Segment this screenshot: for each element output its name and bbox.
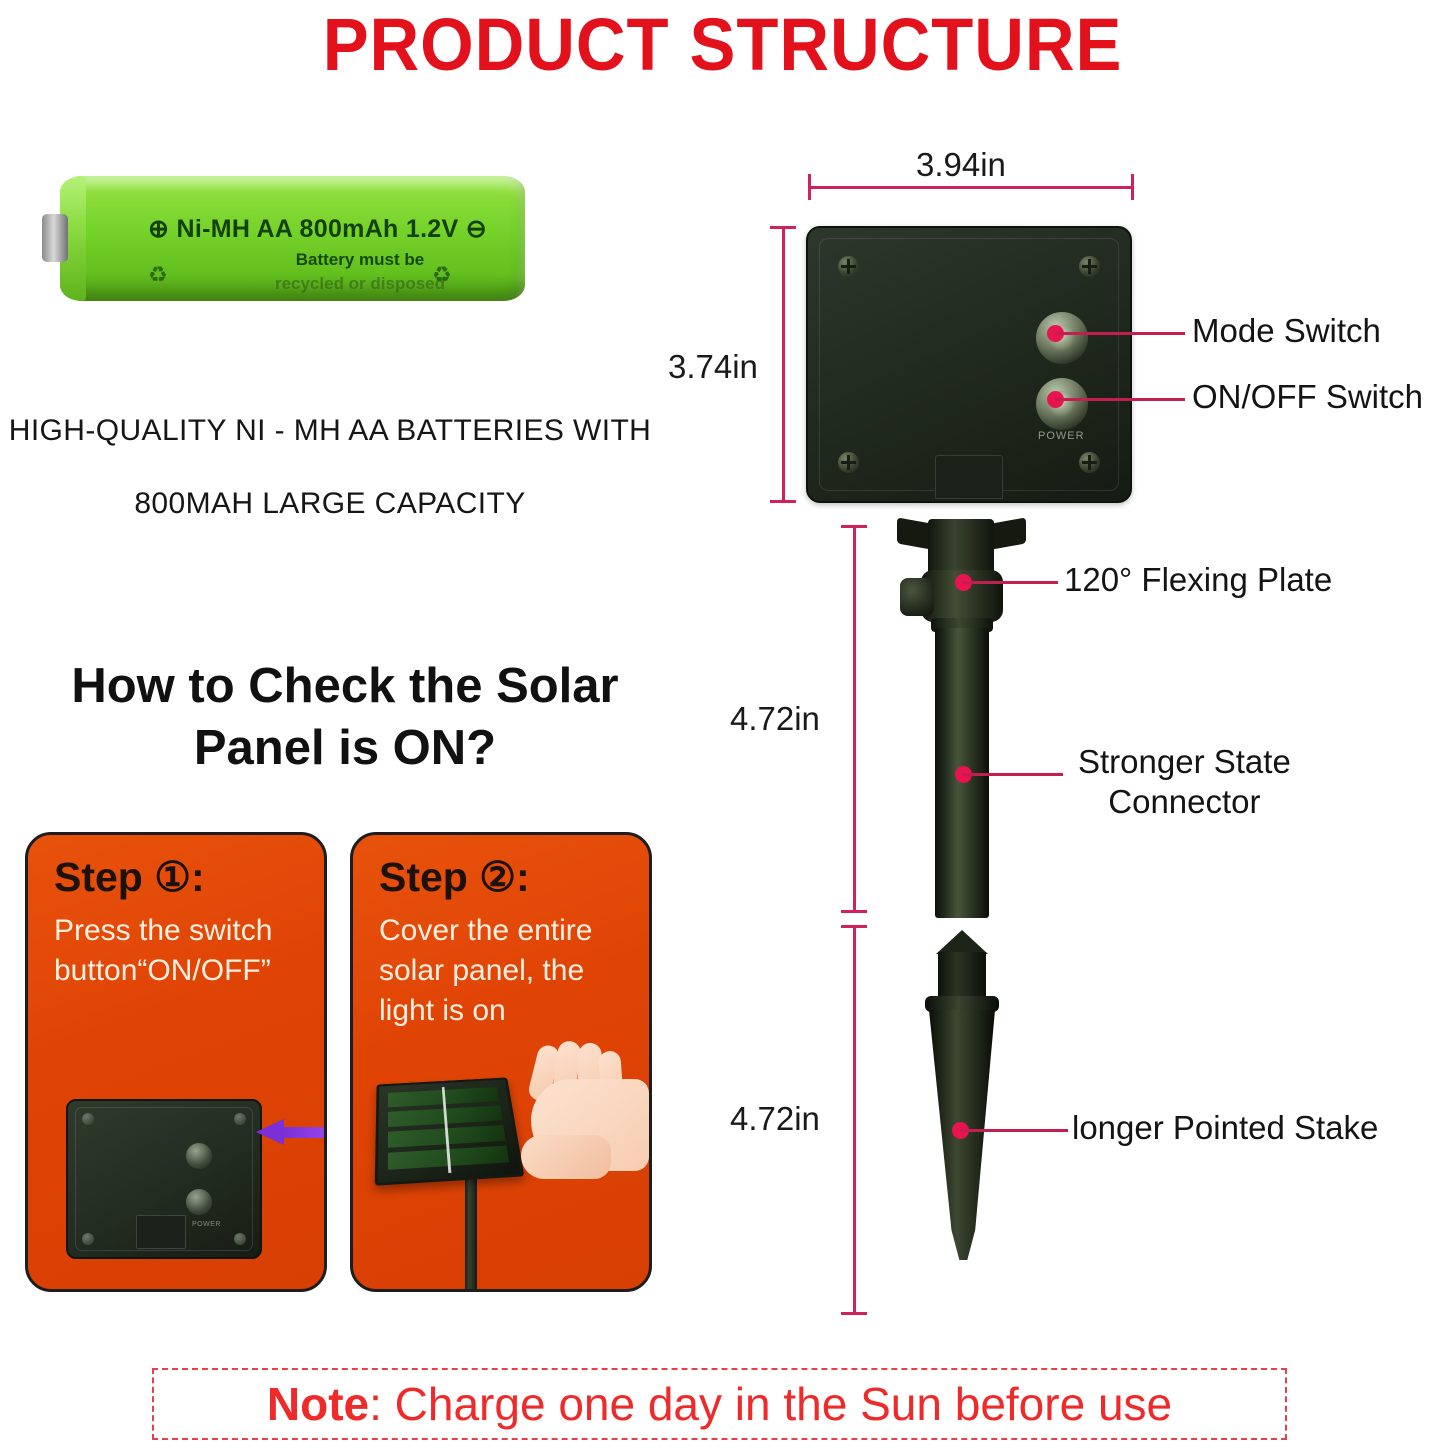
- step-2-solar-panel-image: [375, 1077, 525, 1185]
- battery-spec-label: Ni-MH AA 800mAh 1.2V: [177, 215, 459, 243]
- callout-label-connector: Stronger State Connector: [1078, 742, 1291, 822]
- note-text: Note: Charge one day in the Sun before u…: [267, 1377, 1172, 1431]
- recycle-icon: ♻: [148, 262, 168, 288]
- dimension-label-connector: 4.72in: [730, 700, 820, 738]
- step-1-solar-panel-image: POWER: [66, 1099, 262, 1259]
- dimension-tick: [841, 910, 867, 913]
- dimension-tick: [808, 174, 811, 200]
- battery-warning-line2: recycled or disposed: [210, 274, 510, 294]
- dimension-line-connector: [853, 525, 856, 913]
- battery-caption-line1: HIGH-QUALITY NI - MH AA BATTERIES WITH: [0, 414, 660, 448]
- battery-body: ⊕ Ni-MH AA 800mAh 1.2V ⊖ Battery must be…: [60, 176, 525, 301]
- callout-line-stake: [960, 1129, 1068, 1132]
- battery-illustration: ⊕ Ni-MH AA 800mAh 1.2V ⊖ Battery must be…: [30, 168, 530, 308]
- stake-neck: [938, 952, 986, 998]
- thumb: [521, 1135, 611, 1179]
- screw-icon: [82, 1113, 94, 1125]
- callout-label-flexing-plate: 120° Flexing Plate: [1064, 560, 1332, 600]
- pointer-arrow-icon: [256, 1119, 327, 1145]
- callout-label-mode-switch: Mode Switch: [1192, 311, 1381, 351]
- dimension-line-panel-height: [782, 226, 785, 503]
- step-1-body: Press the switch button“ON/OFF”: [54, 911, 310, 991]
- dimension-tick: [841, 1312, 867, 1315]
- screw-icon: [1079, 452, 1100, 473]
- no-bin-icon: ♻: [432, 262, 452, 288]
- stake-top-cap: [936, 930, 988, 954]
- arrow-shaft: [282, 1127, 327, 1138]
- note-rest-label: : Charge one day in the Sun before use: [369, 1378, 1172, 1430]
- page-title: PRODUCT STRUCTURE: [51, 2, 1395, 87]
- note-bold-label: Note: [267, 1378, 369, 1430]
- panel-bottom-tab: [935, 455, 1003, 499]
- step-1-heading: Step ①:: [54, 853, 205, 901]
- callout-label-connector-line2: Connector: [1078, 782, 1291, 822]
- dimension-tick: [841, 525, 867, 528]
- callout-line-mode-switch: [1055, 332, 1185, 335]
- battery-plus-icon: ⊕: [148, 215, 169, 243]
- stake-collar-ring: [925, 996, 999, 1012]
- adjustment-knob: [900, 578, 934, 616]
- dimension-tick: [770, 226, 796, 229]
- callout-label-onoff-switch: ON/OFF Switch: [1192, 377, 1423, 417]
- step-2-heading: Step ②:: [379, 853, 530, 901]
- battery-caption-line2: 800MAH LARGE CAPACITY: [0, 487, 660, 521]
- dimension-line-stake: [853, 925, 856, 1315]
- dimension-tick: [770, 500, 796, 503]
- callout-line-connector: [963, 773, 1063, 776]
- dimension-label-stake: 4.72in: [730, 1100, 820, 1138]
- arrow-head: [256, 1119, 284, 1145]
- power-label: POWER: [1038, 430, 1085, 442]
- mode-switch-button: [186, 1143, 212, 1169]
- onoff-switch-button: [186, 1189, 212, 1215]
- panel-inner-border: [819, 238, 1119, 491]
- callout-line-onoff-switch: [1055, 398, 1185, 401]
- step-card-1: Step ①: Press the switch button“ON/OFF” …: [25, 832, 327, 1292]
- step-2-body: Cover the entire solar panel, the light …: [379, 911, 635, 1031]
- step-2-pole: [465, 1171, 477, 1289]
- battery-negative-terminal: [42, 214, 68, 262]
- howto-heading: How to Check the Solar Panel is ON?: [0, 655, 690, 779]
- battery-warning-line1: Battery must be: [210, 250, 510, 270]
- step-card-2: Step ②: Cover the entire solar panel, th…: [350, 832, 652, 1292]
- dimension-tick: [841, 925, 867, 928]
- dimension-line-panel-width: [808, 186, 1134, 189]
- howto-line2: Panel is ON?: [0, 717, 690, 779]
- hand-covering-icon: [503, 1041, 652, 1201]
- panel-bottom-tab: [136, 1215, 186, 1249]
- screw-icon: [838, 256, 859, 277]
- screw-icon: [1079, 256, 1100, 277]
- dimension-label-panel-height: 3.74in: [668, 348, 758, 386]
- dimension-label-panel-width: 3.94in: [916, 146, 1006, 184]
- battery-spec-text: ⊕ Ni-MH AA 800mAh 1.2V ⊖: [148, 214, 528, 244]
- callout-label-connector-line1: Stronger State: [1078, 742, 1291, 782]
- howto-line1: How to Check the Solar: [0, 655, 690, 717]
- screw-icon: [234, 1113, 246, 1125]
- screw-icon: [234, 1233, 246, 1245]
- callout-line-flexing-plate: [963, 581, 1058, 584]
- power-label: POWER: [192, 1221, 221, 1228]
- dimension-tick: [1131, 174, 1134, 200]
- callout-label-stake: longer Pointed Stake: [1072, 1108, 1378, 1148]
- screw-icon: [838, 452, 859, 473]
- note-box: Note: Charge one day in the Sun before u…: [152, 1368, 1287, 1440]
- battery-minus-icon: ⊖: [466, 215, 487, 243]
- screw-icon: [82, 1233, 94, 1245]
